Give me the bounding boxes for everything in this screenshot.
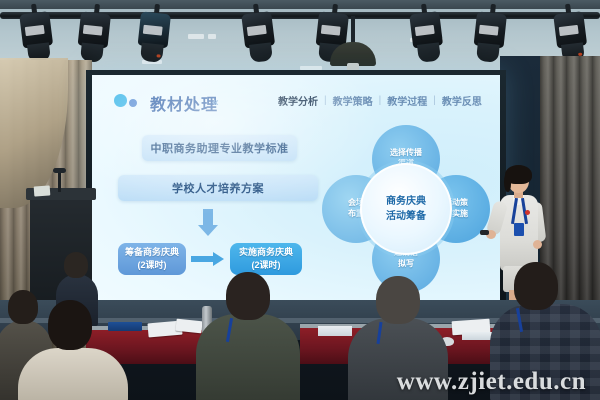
lectern-paper [34,185,51,196]
petal-line1: 选择传播 [390,148,422,159]
presenter-hair-side [504,172,511,192]
tab-teaching-strategy[interactable]: 教学策略 [327,93,379,108]
light-label [559,25,579,36]
light-label [143,25,163,36]
center-line2: 活动筹备 [386,209,426,224]
presenter-lapel-pin-icon [525,210,530,215]
arrow-down-icon [197,209,219,237]
ceiling-seam [0,0,600,9]
light-label [83,25,103,36]
petal-diagram: 选择传播 渠道 会场 布置 活动策 划实施 [320,123,492,295]
light-label [25,25,45,36]
watermark: www.zjiet.edu.cn [0,368,600,396]
slide-tab-bar: 教学分析 | 教学策略 | 教学过程 | 教学反思 [272,93,488,108]
logo-dot-large [114,94,127,107]
card-teaching-standard: 中职商务助理专业教学标准 [142,135,297,161]
light-label [247,25,267,36]
light-label [479,25,499,36]
flow-step-prepare: 筹备商务庆典 (2课时) [118,243,186,275]
tab-teaching-reflection[interactable]: 教学反思 [436,93,488,108]
ceiling-downlight [208,34,216,39]
page-title: 教材处理 [150,91,218,115]
pendant-rod [351,16,355,44]
flow-step-title: 筹备商务庆典 [125,246,179,259]
presenter-badge [514,223,524,236]
audience-head [376,276,420,324]
light-label [415,25,435,36]
blue-dots-logo-icon [114,94,137,107]
light-label [321,25,341,36]
microphone-icon [53,168,66,173]
audience-head [48,300,92,350]
flow-step-hours: (2课时) [252,259,281,272]
flow-step-title: 实施商务庆典 [239,246,293,259]
audience-head [514,262,558,310]
arrow-right-icon [191,252,225,266]
tab-teaching-process[interactable]: 教学过程 [381,93,433,108]
presenter-right-hand [533,240,542,249]
microphone-stand [58,172,61,192]
presentation-room-photo: 教材处理 « 教学分析 | 教学策略 | 教学过程 | 教学反思 中职商务助理专… [0,0,600,400]
card-talent-training-plan: 学校人才培养方案 [118,175,318,201]
petal-line2: 拟写 [394,259,418,270]
light-indicator-icon [156,54,160,57]
flow-step-execute: 实施商务庆典 (2课时) [230,243,302,275]
flow-step-hours: (2课时) [138,259,167,272]
logo-dot-small [129,99,137,107]
tab-teaching-analysis[interactable]: 教学分析 [272,93,324,108]
audience-head [226,272,270,320]
chevron-left-icon: « [212,95,219,109]
petal-diagram-center: 商务庆典 活动筹备 [360,163,452,255]
booklet [318,326,352,336]
ceiling-downlight [188,34,204,39]
audience-head [64,252,88,278]
slide-header: 教材处理 « 教学分析 | 教学策略 | 教学过程 | 教学反思 [92,89,500,115]
center-line1: 商务庆典 [386,194,426,209]
presentation-clicker [480,230,489,235]
